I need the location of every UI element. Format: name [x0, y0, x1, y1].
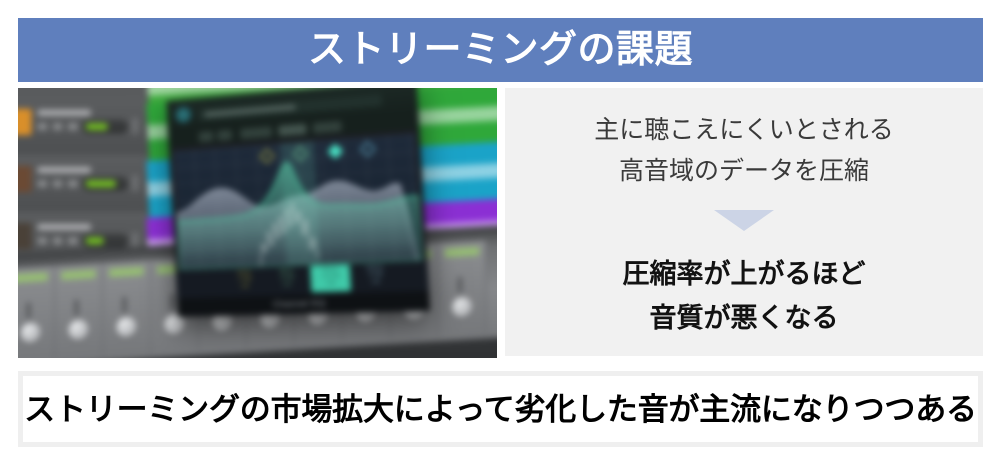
track-knob [132, 118, 139, 134]
mixer-channel [439, 240, 487, 337]
eq-node-icon [327, 144, 343, 159]
explanation-top-line-2: 高音域のデータを圧縮 [505, 151, 983, 192]
daw-screenshot-inner: 124 Hz -7.5 dB 1.00 265 Hz -6.0 dB 0.70 … [18, 88, 497, 358]
track-thumbnail [18, 223, 32, 250]
track-fader [83, 120, 128, 133]
channel-eq-plugin-window: 124 Hz -7.5 dB 1.00 265 Hz -6.0 dB 0.70 … [166, 88, 430, 317]
explanation-bottom-text: 圧縮率が上がるほど 音質が悪くなる [505, 252, 983, 340]
track-knob [132, 175, 139, 191]
track-name-placeholder [38, 167, 91, 173]
conclusion-text: ストリーミングの市場拡大によって劣化した音が主流になりつつある [24, 394, 977, 425]
slide-title-band: ストリーミングの課題 [18, 18, 983, 82]
daw-track-header [18, 155, 148, 213]
page-title: ストリーミングの課題 [308, 31, 693, 69]
eq-param-cell: 124 Hz -7.5 dB 1.00 [225, 268, 264, 295]
explanation-top-text: 主に聴こえにくいとされる 高音域のデータを圧縮 [505, 110, 983, 192]
track-name-placeholder [38, 224, 91, 230]
track-buttons [38, 123, 85, 130]
track-fader [83, 177, 128, 190]
daw-track-headers [18, 88, 148, 269]
daw-screenshot-image: 124 Hz -7.5 dB 1.00 265 Hz -6.0 dB 0.70 … [18, 88, 497, 358]
eq-param-cell-selected: 870 Hz +13.5 dB 0.98 [310, 264, 351, 292]
mixer-channel [18, 266, 55, 358]
plugin-power-icon [175, 106, 192, 124]
daw-track-header [18, 98, 148, 156]
eq-curve-graph [173, 134, 422, 270]
eq-param-cell: 265 Hz -6.0 dB 0.70 [267, 266, 307, 294]
eq-node-icon [360, 141, 376, 156]
slide-root: ストリーミングの課題 [0, 0, 1000, 466]
track-name-placeholder [38, 110, 91, 116]
track-thumbnail [18, 166, 32, 193]
track-thumbnail [18, 109, 32, 136]
explanation-panel: 主に聴こえにくいとされる 高音域のデータを圧縮 圧縮率が上がるほど 音質が悪くな… [505, 88, 983, 356]
arrow-down-container [505, 210, 983, 231]
conclusion-banner: ストリーミングの市場拡大によって劣化した音が主流になりつつある [18, 371, 983, 447]
eq-param-cell: 2150 Hz -4.5 dB 1.40 [354, 263, 396, 291]
mixer-channel [103, 260, 151, 357]
explanation-bottom-line-1: 圧縮率が上がるほど [505, 252, 983, 296]
track-buttons [38, 237, 85, 244]
eq-node-icon [260, 149, 275, 164]
explanation-top-line-1: 主に聴こえにくいとされる [505, 110, 983, 151]
arrow-down-icon [714, 210, 774, 231]
mixer-channel [55, 263, 103, 358]
track-fader [83, 234, 128, 247]
explanation-bottom-line-2: 音質が悪くなる [505, 296, 983, 340]
track-buttons [38, 180, 85, 187]
eq-node-icon [293, 146, 308, 161]
